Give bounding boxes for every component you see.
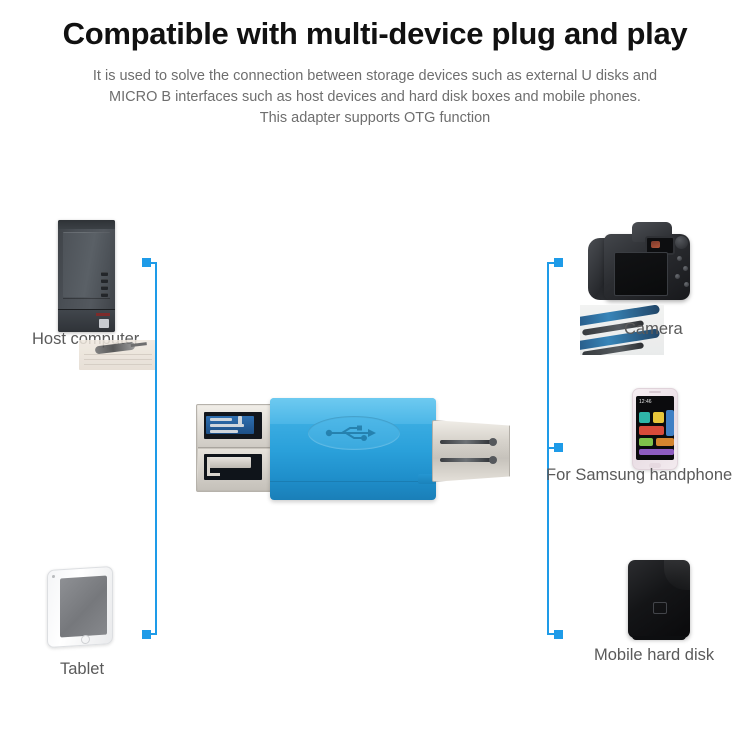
label-camera: Camera [624, 320, 683, 339]
cable-photo-artifact [79, 340, 157, 370]
bracket-node-bottom [554, 630, 563, 639]
micro-b-male-connector [432, 420, 508, 480]
bracket-node-middle [554, 443, 563, 452]
label-samsung-handphone: For Samsung handphone [546, 466, 732, 485]
label-mobile-hard-disk: Mobile hard disk [594, 646, 714, 665]
usb-otg-adapter-product [196, 398, 508, 500]
infographic-canvas: Compatible with multi-device plug and pl… [0, 0, 750, 750]
usb-a-female-connector [196, 404, 276, 492]
description-line-2: MICRO B interfaces such as host devices … [28, 87, 722, 108]
dslr-camera-icon [588, 222, 696, 304]
bracket-node-top [142, 258, 151, 267]
description-line-3: This adapter supports OTG function [28, 108, 722, 129]
description-line-1: It is used to solve the connection betwe… [28, 66, 722, 87]
bracket-node-top [554, 258, 563, 267]
desktop-tower-icon [58, 220, 115, 332]
external-hard-disk-icon [628, 560, 690, 638]
page-description: It is used to solve the connection betwe… [28, 66, 722, 129]
tablet-icon [47, 568, 113, 646]
page-title: Compatible with multi-device plug and pl… [0, 16, 750, 52]
smartphone-icon: 12:46 [632, 388, 678, 470]
usb-trident-logo [324, 425, 382, 441]
adapter-body [270, 398, 436, 500]
phone-screen-time: 12:46 [639, 399, 652, 405]
bracket-node-bottom [142, 630, 151, 639]
label-tablet: Tablet [60, 660, 104, 679]
